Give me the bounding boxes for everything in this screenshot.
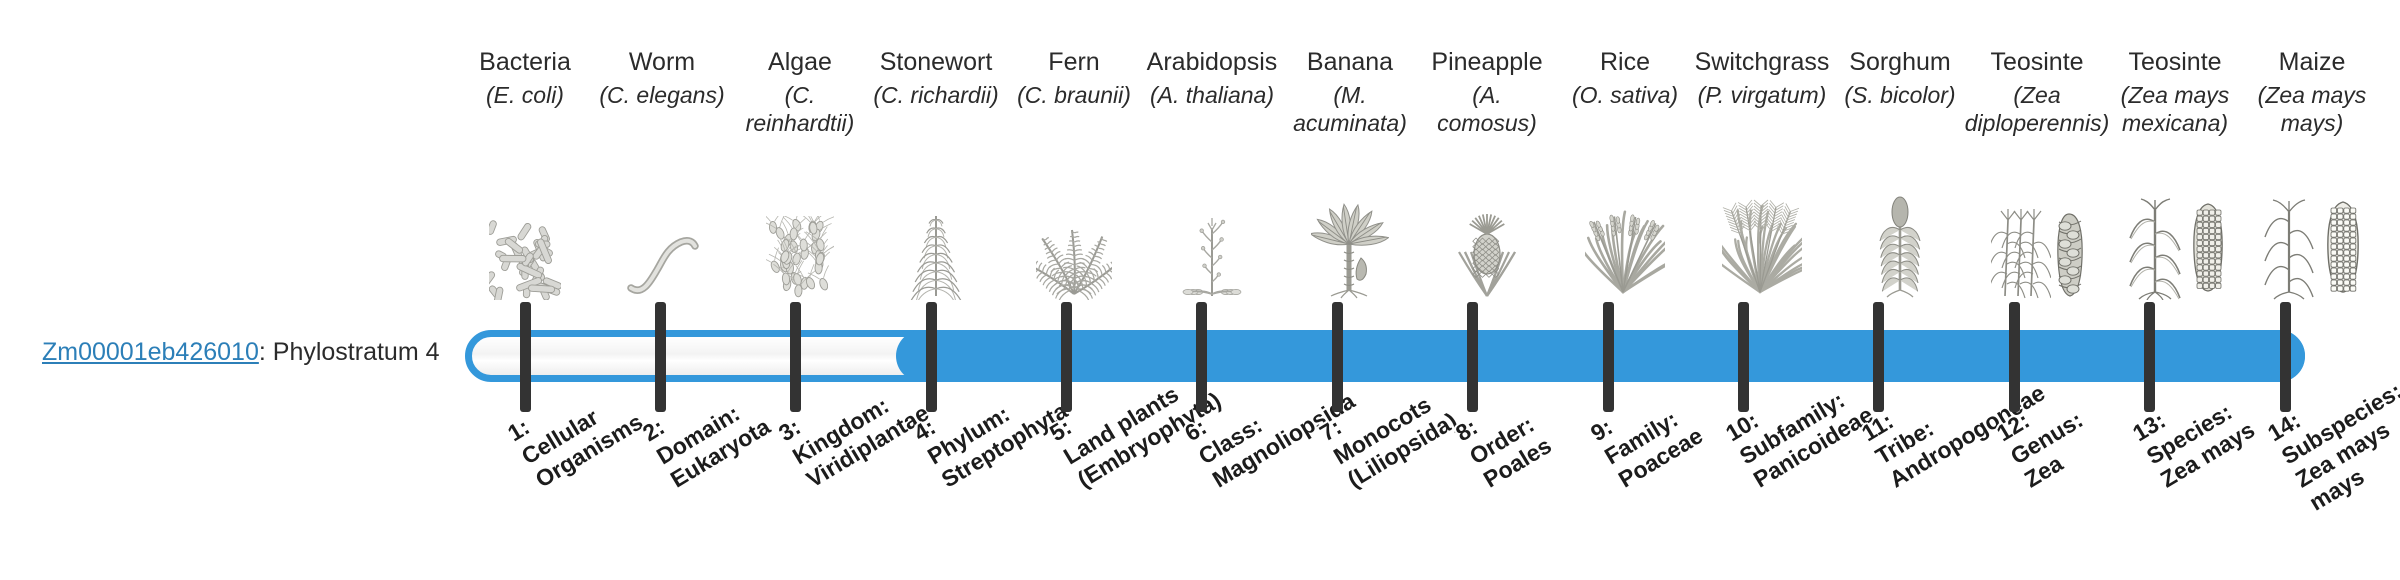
species-scientific-name: (A. thaliana): [1135, 81, 1290, 109]
phylostratum-tick-9[interactable]: [1603, 302, 1614, 412]
species-scientific-name: (Zea mays mexicana): [2108, 81, 2243, 137]
species-common-name: Sorghum: [1830, 48, 1970, 76]
species-column-teosinte-12: Teosinte(Zea mays mexicana): [2108, 48, 2243, 137]
species-column-teosinte-11: Teosinte(Zea diploperennis): [1965, 48, 2110, 137]
species-scientific-name: (C. richardii): [861, 81, 1011, 109]
species-scientific-name: (C. elegans): [592, 81, 732, 109]
species-scientific-name: (S. bicolor): [1830, 81, 1970, 109]
phylostratum-tick-4[interactable]: [926, 302, 937, 412]
species-column-worm-1: Worm(C. elegans): [592, 48, 732, 109]
species-common-name: Worm: [592, 48, 732, 76]
phylostratum-tick-7[interactable]: [1332, 302, 1343, 412]
species-scientific-name: (C. reinhardtii): [743, 81, 858, 137]
species-column-maize-13: Maize(Zea mays mays): [2245, 48, 2380, 137]
species-scientific-name: (Zea mays mays): [2245, 81, 2380, 137]
sorghum-icon: [1830, 190, 1970, 300]
species-column-rice-8: Rice(O. sativa): [1555, 48, 1695, 109]
pineapple-icon: [1417, 190, 1557, 300]
species-scientific-name: (A. comosus): [1428, 81, 1546, 137]
worm-icon: [592, 190, 732, 300]
species-column-algae-2: Algae(C. reinhardtii): [743, 48, 858, 137]
species-column-arabidopsis-5: Arabidopsis(A. thaliana): [1135, 48, 1290, 109]
species-common-name: Teosinte: [2108, 48, 2243, 76]
rice-icon: [1555, 190, 1695, 300]
species-common-name: Maize: [2245, 48, 2380, 76]
species-column-banana-6: Banana(M. acuminata): [1291, 48, 1409, 137]
species-column-bacteria-0: Bacteria(E. coli): [455, 48, 595, 109]
species-common-name: Bacteria: [455, 48, 595, 76]
species-common-name: Arabidopsis: [1135, 48, 1290, 76]
arabidopsis-icon: [1142, 190, 1282, 300]
species-scientific-name: (Zea diploperennis): [1965, 81, 2110, 137]
stonewort-icon: [866, 190, 1006, 300]
species-common-name: Pineapple: [1428, 48, 1546, 76]
algae-icon: [730, 190, 870, 300]
gene-phylostratum-label: Zm00001eb426010: Phylostratum 4: [42, 337, 440, 367]
teosinte-mexicana-icon: [2105, 190, 2245, 300]
gene-phylostratum-value: Phylostratum 4: [273, 338, 440, 366]
switchgrass-icon: [1692, 190, 1832, 300]
species-column-pineapple-7: Pineapple(A. comosus): [1428, 48, 1546, 137]
phylostratum-tick-3[interactable]: [790, 302, 801, 412]
phylostratum-tick-1[interactable]: [520, 302, 531, 412]
species-common-name: Stonewort: [861, 48, 1011, 76]
species-column-sorghum-10: Sorghum(S. bicolor): [1830, 48, 1970, 109]
phylostratum-tick-5[interactable]: [1061, 302, 1072, 412]
species-column-switchgrass-9: Switchgrass(P. virgatum): [1695, 48, 1830, 109]
species-common-name: Algae: [743, 48, 858, 76]
species-scientific-name: (O. sativa): [1555, 81, 1695, 109]
phylostratum-tick-2[interactable]: [655, 302, 666, 412]
phylostratum-tick-14[interactable]: [2280, 302, 2291, 412]
species-column-stonewort-3: Stonewort(C. richardii): [861, 48, 1011, 109]
gene-id-link[interactable]: Zm00001eb426010: [42, 338, 259, 366]
species-common-name: Switchgrass: [1695, 48, 1830, 76]
species-column-fern-4: Fern(C. braunii): [1004, 48, 1144, 109]
phylostratum-tick-10[interactable]: [1738, 302, 1749, 412]
species-scientific-name: (C. braunii): [1004, 81, 1144, 109]
phylostratigraphy-figure: Zm00001eb426010: Phylostratum 4 Bacteria…: [0, 0, 2400, 580]
fern-icon: [1004, 190, 1144, 300]
gene-label-separator: :: [259, 338, 273, 366]
species-common-name: Teosinte: [1965, 48, 2110, 76]
phylostratum-bar-fill: [896, 330, 2305, 382]
species-scientific-name: (P. virgatum): [1695, 81, 1830, 109]
bacteria-icon: [455, 190, 595, 300]
phylostratum-tick-8[interactable]: [1467, 302, 1478, 412]
banana-icon: [1280, 190, 1420, 300]
phylostratum-tick-11[interactable]: [1873, 302, 1884, 412]
species-common-name: Banana: [1291, 48, 1409, 76]
phylostratum-tick-12[interactable]: [2009, 302, 2020, 412]
species-scientific-name: (M. acuminata): [1291, 81, 1409, 137]
species-common-name: Rice: [1555, 48, 1695, 76]
phylostratum-tick-6[interactable]: [1196, 302, 1207, 412]
maize-icon: [2242, 190, 2382, 300]
teosinte-diplo-icon: [1967, 190, 2107, 300]
species-scientific-name: (E. coli): [455, 81, 595, 109]
species-common-name: Fern: [1004, 48, 1144, 76]
phylostratum-tick-13[interactable]: [2144, 302, 2155, 412]
